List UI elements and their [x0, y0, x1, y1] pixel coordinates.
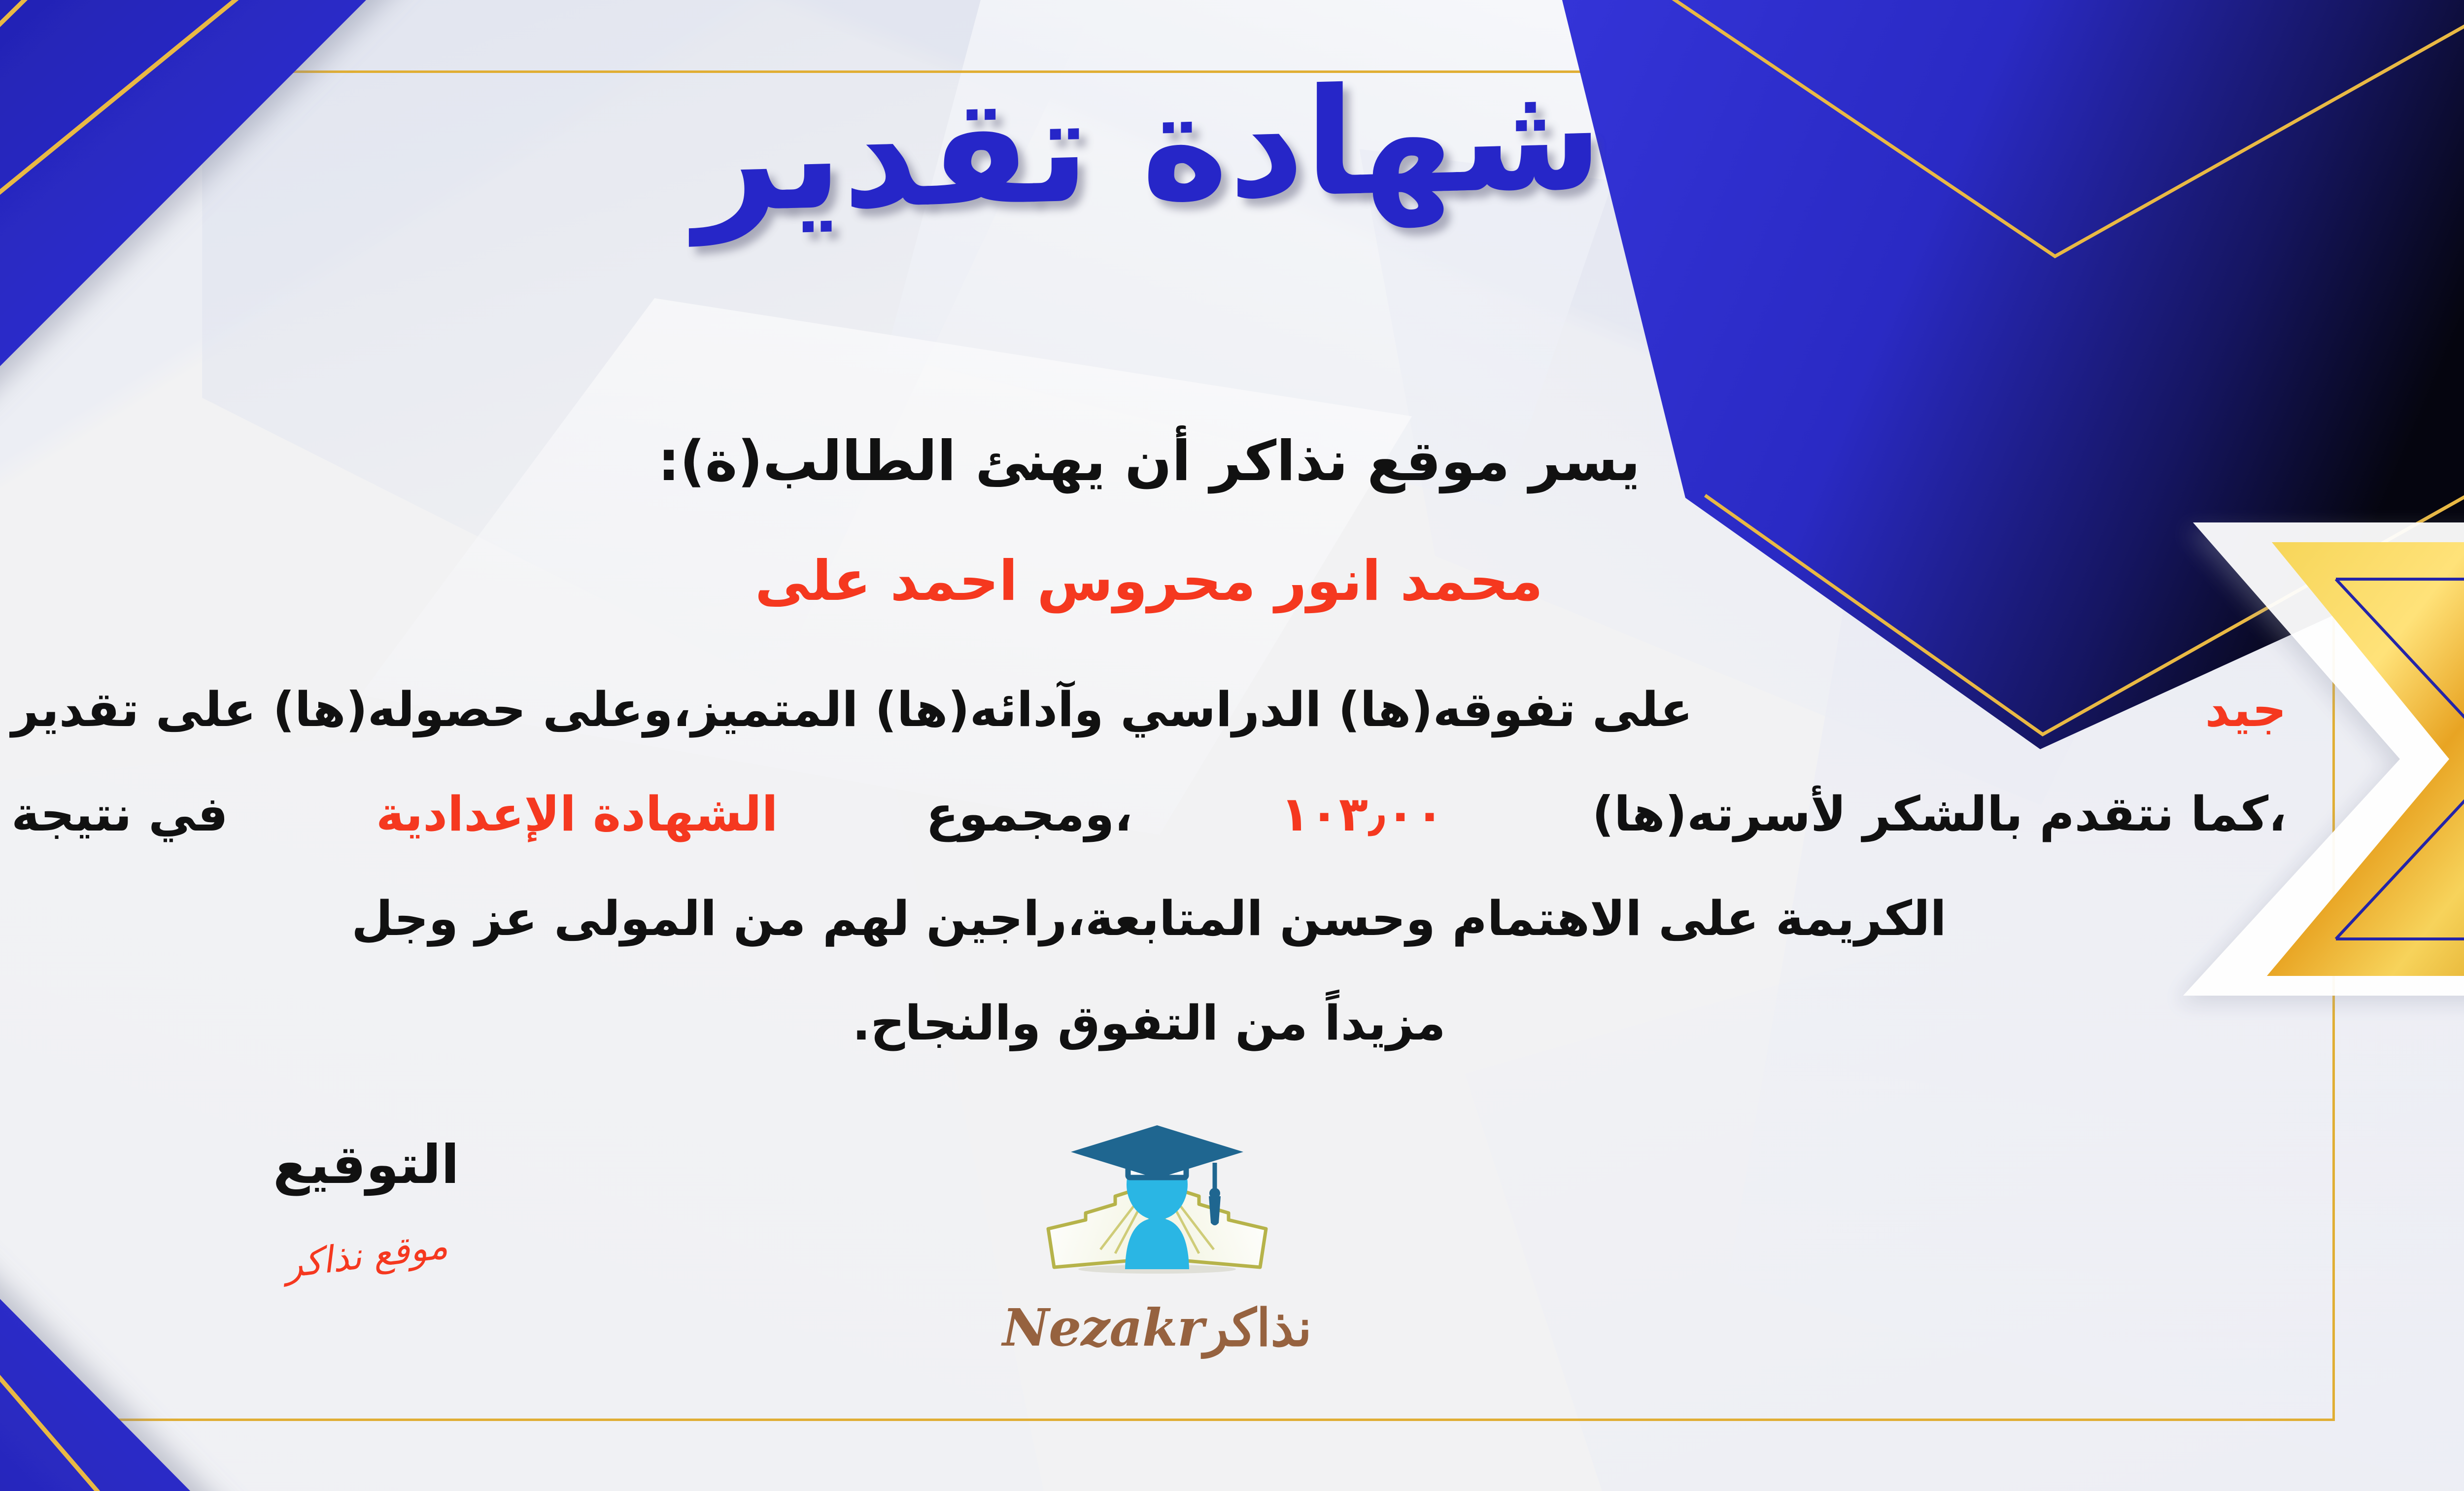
body-line-4: مزيداً من التفوق والنجاح.	[0, 993, 2306, 1054]
body-line-2-start: في نتيجة	[11, 784, 228, 845]
body-line-2-end: ،كما نتقدم بالشكر لأسرته(ها)	[1592, 784, 2287, 845]
total-score: ١٠٣٫٠٠	[1280, 784, 1444, 845]
signature-label: التوقيع	[213, 1139, 519, 1192]
certificate-page: شهادة تقدير يسر موقع نذاكر أن يهنئ الطال…	[0, 0, 2464, 1491]
logo-arabic: نذاكر	[1204, 1297, 1312, 1358]
logo-latin: Nezakr	[1002, 1301, 1204, 1354]
body-line-1: جيد على تفوقه(ها) الدراسي وآدائه(ها) الم…	[0, 679, 2306, 740]
logo-wordmark: نذاكرNezakr	[953, 1301, 1362, 1354]
body-line-1-text: على تفوقه(ها) الدراسي وآدائه(ها) المتميز…	[11, 679, 1693, 740]
mortarboard-top	[1071, 1125, 1243, 1179]
exam-name: الشهادة الإعدادية	[376, 784, 778, 845]
body-line-3: الكريمة على الاهتمام وحسن المتابعة،راجين…	[0, 888, 2306, 949]
graduation-book-icon	[1041, 1121, 1273, 1299]
greeting-line: يسر موقع نذاكر أن يهنئ الطالب(ة):	[0, 426, 2306, 497]
grade-value: جيد	[2205, 679, 2287, 740]
body-line-2-mid: ،ومجموع	[926, 784, 1132, 845]
certificate-title: شهادة تقدير	[0, 44, 2306, 252]
signature-block: التوقيع موقع نذاكر	[213, 1139, 519, 1277]
body-line-2: ،كما نتقدم بالشكر لأسرته(ها) ١٠٣٫٠٠ ،ومج…	[0, 784, 2306, 845]
student-name: محمد انور محروس احمد على	[0, 546, 2306, 617]
site-logo: نذاكرNezakr	[953, 1121, 1362, 1354]
